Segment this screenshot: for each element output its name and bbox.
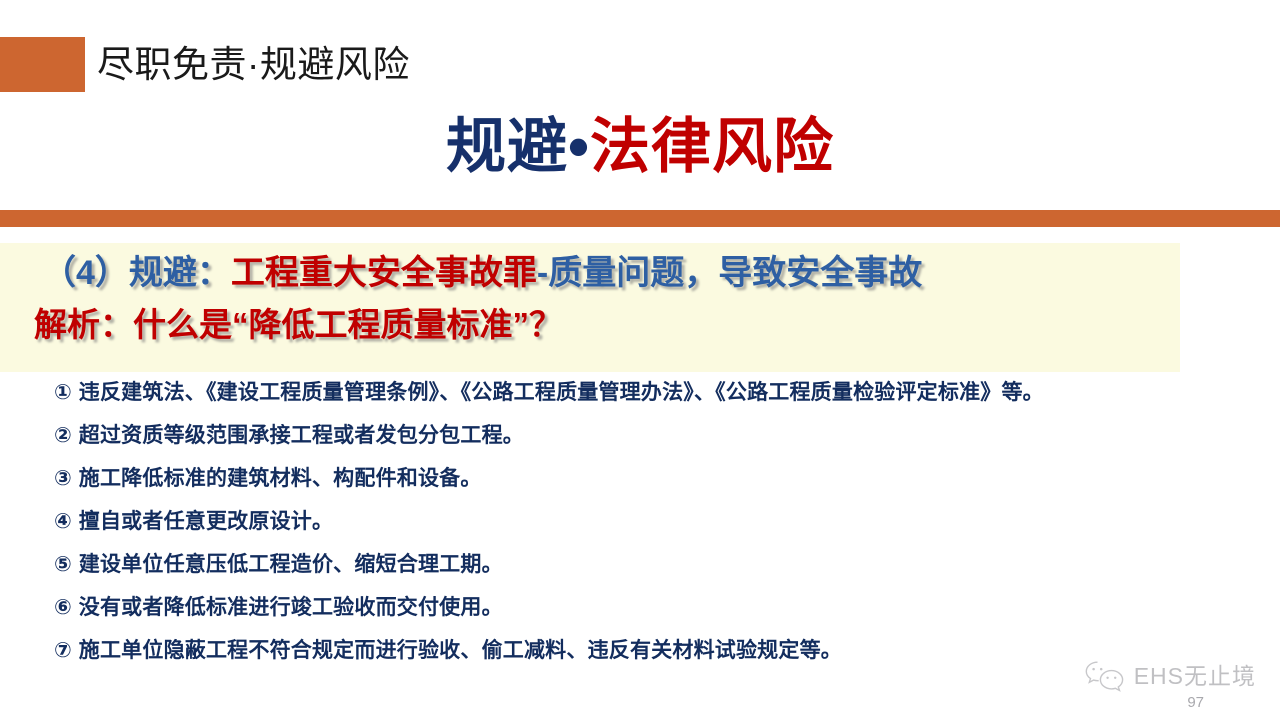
highlight-line-1-suffix: -质量问题，导致安全事故 — [537, 254, 922, 292]
list-item: ⑥ 没有或者降低标准进行竣工验收而交付使用。 — [54, 594, 1264, 622]
section-divider — [0, 210, 1280, 227]
list-item-marker: ① — [54, 379, 72, 407]
wechat-icon — [1084, 660, 1126, 692]
list-item-marker: ⑥ — [54, 594, 72, 622]
page-title-blue-part: 规避• — [446, 113, 590, 180]
highlight-line-1-crime: 工程重大安全事故罪 — [231, 254, 537, 292]
watermark: EHS无止境 — [1084, 660, 1256, 692]
highlight-line-2: 解析：什么是“降低工程质量标准”？ — [34, 301, 562, 349]
header-title: 尽职免责·规避风险 — [97, 40, 410, 90]
list-item-text: 违反建筑法、《建设工程质量管理条例》、《公路工程质量管理办法》、《公路工程质量检… — [79, 379, 1044, 407]
list-item-text: 建设单位任意压低工程造价、缩短合理工期。 — [79, 551, 503, 579]
list-item-marker: ④ — [54, 508, 72, 536]
header-accent-bar — [0, 37, 85, 92]
numbered-list: ① 违反建筑法、《建设工程质量管理条例》、《公路工程质量管理办法》、《公路工程质… — [54, 379, 1264, 680]
list-item-text: 没有或者降低标准进行竣工验收而交付使用。 — [79, 594, 503, 622]
list-item-marker: ③ — [54, 465, 72, 493]
list-item-marker: ② — [54, 422, 72, 450]
list-item-marker: ⑦ — [54, 637, 72, 665]
page-title: 规避•法律风险 — [0, 112, 1280, 182]
list-item-text: 施工单位隐蔽工程不符合规定而进行验收、偷工减料、违反有关材料试验规定等。 — [79, 637, 842, 665]
list-item-text: 施工降低标准的建筑材料、构配件和设备。 — [79, 465, 482, 493]
page-number: 97 — [1187, 694, 1204, 712]
list-item: ① 违反建筑法、《建设工程质量管理条例》、《公路工程质量管理办法》、《公路工程质… — [54, 379, 1264, 407]
list-item: ④ 擅自或者任意更改原设计。 — [54, 508, 1264, 536]
highlight-line-1-prefix: （4）规避： — [42, 254, 231, 292]
list-item: ⑦ 施工单位隐蔽工程不符合规定而进行验收、偷工减料、违反有关材料试验规定等。 — [54, 637, 1264, 665]
highlight-line-2-text: 解析：什么是“降低工程质量标准”？ — [34, 306, 562, 343]
list-item-marker: ⑤ — [54, 551, 72, 579]
page-title-red-part: 法律风险 — [590, 113, 834, 180]
list-item: ⑤ 建设单位任意压低工程造价、缩短合理工期。 — [54, 551, 1264, 579]
list-item: ② 超过资质等级范围承接工程或者发包分包工程。 — [54, 422, 1264, 450]
highlight-panel: （4）规避：工程重大安全事故罪-质量问题，导致安全事故 解析：什么是“降低工程质… — [0, 243, 1180, 372]
highlight-line-1: （4）规避：工程重大安全事故罪-质量问题，导致安全事故 — [42, 249, 922, 297]
list-item-text: 超过资质等级范围承接工程或者发包分包工程。 — [79, 422, 524, 450]
list-item: ③ 施工降低标准的建筑材料、构配件和设备。 — [54, 465, 1264, 493]
list-item-text: 擅自或者任意更改原设计。 — [79, 508, 333, 536]
watermark-text: EHS无止境 — [1134, 663, 1256, 689]
